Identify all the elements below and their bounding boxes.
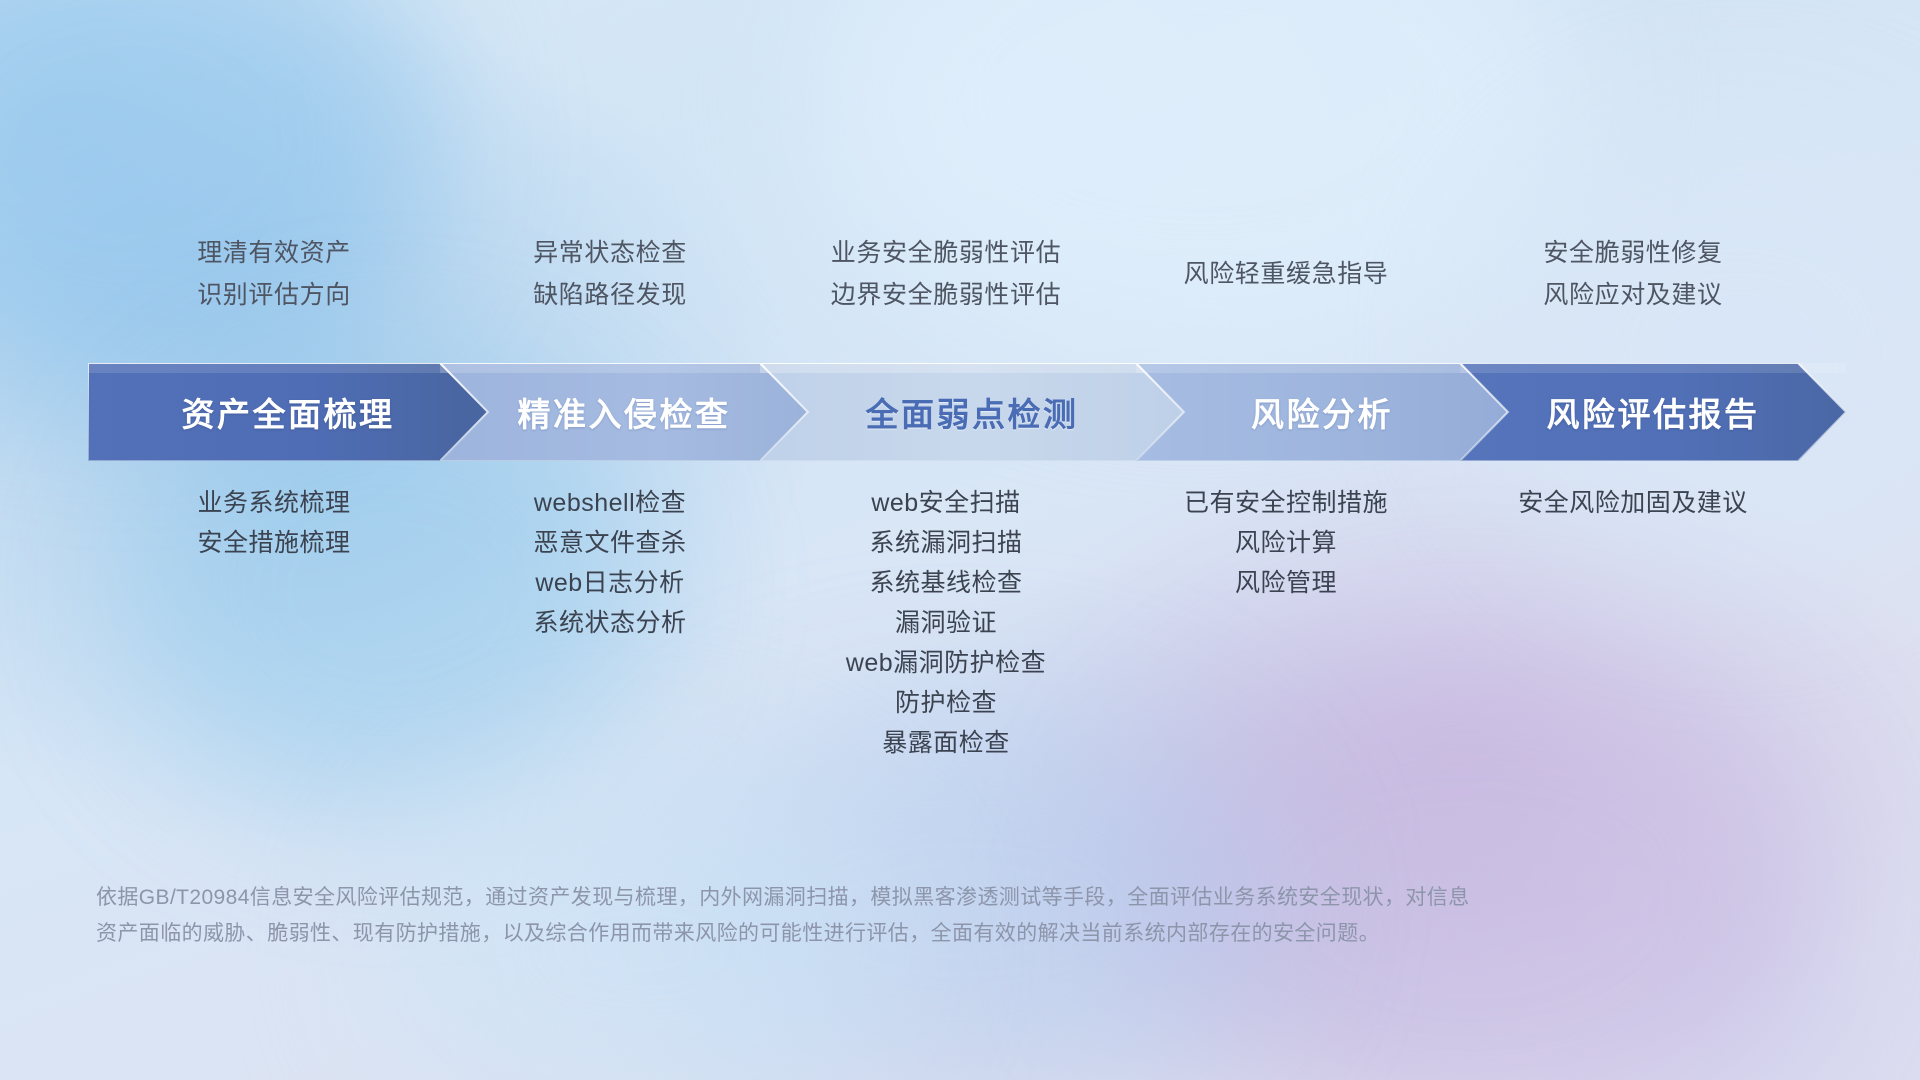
stage-title: 全面弱点检测 — [866, 388, 1079, 436]
top-note: 理清有效资产 — [88, 232, 460, 274]
list-item: 安全措施梳理 — [88, 523, 460, 563]
top-note: 识别评估方向 — [88, 274, 460, 316]
list-item: web安全扫描 — [760, 483, 1132, 523]
top-notes-intrusion-check: 异常状态检查 缺陷路径发现 — [460, 232, 760, 316]
top-notes-risk-analysis: 风险轻重缓急指导 — [1132, 232, 1440, 316]
list-item: 系统基线检查 — [760, 563, 1132, 603]
stage-title: 资产全面梳理 — [182, 388, 395, 436]
list-item: webshell检查 — [460, 483, 760, 523]
list-item: 防护检查 — [760, 683, 1132, 723]
stage-title: 风险评估报告 — [1547, 388, 1760, 436]
footer-line: 资产面临的威胁、脆弱性、现有防护措施，以及综合作用而带来风险的可能性进行评估，全… — [96, 916, 1656, 952]
list-item: 系统状态分析 — [460, 603, 760, 643]
top-notes-weakness-detection: 业务安全脆弱性评估 边界安全脆弱性评估 — [760, 232, 1132, 316]
list-item: 暴露面检查 — [760, 723, 1132, 763]
stage-arrow-risk-analysis[interactable]: 风险分析 — [1136, 363, 1508, 461]
top-note: 缺陷路径发现 — [460, 274, 760, 316]
top-note: 业务安全脆弱性评估 — [760, 232, 1132, 274]
list-item: 系统漏洞扫描 — [760, 523, 1132, 563]
stage-title: 精准入侵检查 — [518, 388, 731, 436]
bottom-items-weakness-detection: web安全扫描 系统漏洞扫描 系统基线检查 漏洞验证 web漏洞防护检查 防护检… — [760, 483, 1132, 763]
bottom-items-risk-analysis: 已有安全控制措施 风险计算 风险管理 — [1132, 483, 1440, 763]
list-item: 已有安全控制措施 — [1132, 483, 1440, 523]
bottom-items-row: 业务系统梳理 安全措施梳理 webshell检查 恶意文件查杀 web日志分析 … — [0, 483, 1920, 763]
list-item: 漏洞验证 — [760, 603, 1132, 643]
list-item: 安全风险加固及建议 — [1440, 483, 1826, 523]
process-arrow-band: 资产全面梳理 — [88, 363, 1846, 461]
stage-arrow-intrusion-check[interactable]: 精准入侵检查 — [440, 363, 808, 461]
top-note: 安全脆弱性修复 — [1440, 232, 1826, 274]
stage-arrow-asset-inventory[interactable]: 资产全面梳理 — [88, 363, 488, 461]
list-item: 业务系统梳理 — [88, 483, 460, 523]
top-notes-risk-report: 安全脆弱性修复 风险应对及建议 — [1440, 232, 1826, 316]
top-note: 边界安全脆弱性评估 — [760, 274, 1132, 316]
top-note: 异常状态检查 — [460, 232, 760, 274]
top-notes-row: 理清有效资产 识别评估方向 异常状态检查 缺陷路径发现 业务安全脆弱性评估 边界… — [0, 232, 1920, 316]
list-item: 风险管理 — [1132, 563, 1440, 603]
bottom-items-asset-inventory: 业务系统梳理 安全措施梳理 — [88, 483, 460, 763]
footer-description: 依据GB/T20984信息安全风险评估规范，通过资产发现与梳理，内外网漏洞扫描，… — [96, 880, 1656, 951]
list-item: 恶意文件查杀 — [460, 523, 760, 563]
footer-line: 依据GB/T20984信息安全风险评估规范，通过资产发现与梳理，内外网漏洞扫描，… — [96, 880, 1656, 916]
stage-arrow-risk-report[interactable]: 风险评估报告 — [1460, 363, 1846, 461]
slide-canvas: 理清有效资产 识别评估方向 异常状态检查 缺陷路径发现 业务安全脆弱性评估 边界… — [0, 0, 1920, 1080]
bottom-items-intrusion-check: webshell检查 恶意文件查杀 web日志分析 系统状态分析 — [460, 483, 760, 763]
stage-arrow-weakness-detection[interactable]: 全面弱点检测 — [760, 363, 1184, 461]
bottom-items-risk-report: 安全风险加固及建议 — [1440, 483, 1826, 763]
top-note: 风险轻重缓急指导 — [1132, 232, 1440, 295]
list-item: web日志分析 — [460, 563, 760, 603]
stage-title: 风险分析 — [1251, 388, 1393, 436]
list-item: web漏洞防护检查 — [760, 643, 1132, 683]
top-note: 风险应对及建议 — [1440, 274, 1826, 316]
top-notes-asset-inventory: 理清有效资产 识别评估方向 — [88, 232, 460, 316]
list-item: 风险计算 — [1132, 523, 1440, 563]
